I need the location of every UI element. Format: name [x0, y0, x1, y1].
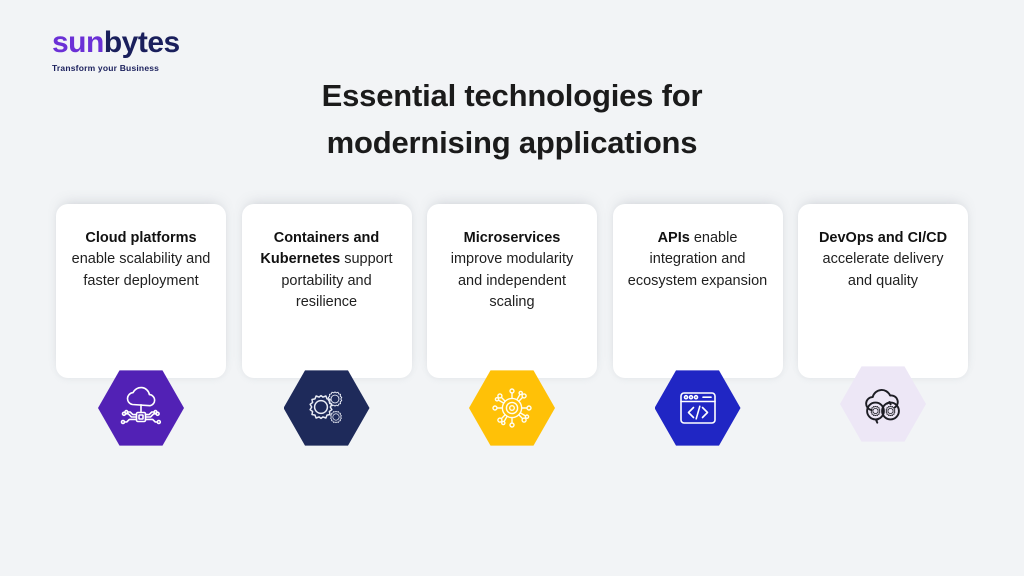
card-text: DevOps and CI/CD accelerate delivery and…: [810, 228, 956, 292]
cloud-computing-icon: [116, 385, 166, 431]
card-cloud-platforms[interactable]: Cloud platforms enable scalability and f…: [56, 204, 226, 378]
hex-badge-microservices: [469, 368, 555, 448]
card-body: Microservices improve modularity and ind…: [427, 204, 597, 378]
microservices-nodes-icon: [487, 384, 537, 432]
card-text: APIs enable integration and ecosystem ex…: [625, 228, 771, 292]
card-body: DevOps and CI/CD accelerate delivery and…: [798, 204, 968, 378]
page-title-line-2: modernising applications: [0, 119, 1024, 166]
hex-badge-containers-kubernetes: [284, 368, 370, 448]
card-description: enable scalability and faster deployment: [72, 251, 211, 288]
card-description: accelerate delivery and quality: [823, 251, 944, 288]
code-window-icon: [673, 386, 723, 430]
brand-logo: sunbytes Transform your Business: [52, 28, 232, 73]
card-description: enable integration and ecosystem expansi…: [628, 230, 767, 289]
card-body: APIs enable integration and ecosystem ex…: [613, 204, 783, 378]
gears-icon: [302, 385, 352, 431]
card-title: DevOps and CI/CD: [819, 230, 947, 246]
brand-name: sunbytes: [52, 28, 232, 58]
card-description: improve modularity and independent scali…: [451, 251, 574, 310]
brand-name-part2: bytes: [104, 26, 180, 59]
card-body: Cloud platforms enable scalability and f…: [56, 204, 226, 378]
card-text: Microservices improve modularity and ind…: [439, 228, 585, 313]
card-title: APIs: [658, 230, 690, 246]
card-containers-kubernetes[interactable]: Containers and Kubernetes support portab…: [242, 204, 412, 378]
card-text: Containers and Kubernetes support portab…: [254, 228, 400, 313]
technology-card-row: Cloud platforms enable scalability and f…: [56, 204, 968, 378]
card-text: Cloud platforms enable scalability and f…: [68, 228, 214, 292]
card-apis[interactable]: APIs enable integration and ecosystem ex…: [613, 204, 783, 378]
card-title: Microservices: [464, 230, 561, 246]
card-microservices[interactable]: Microservices improve modularity and ind…: [427, 204, 597, 378]
page-title-line-1: Essential technologies for: [0, 72, 1024, 119]
devops-cloud-gears-icon: [856, 380, 910, 428]
card-title: Cloud platforms: [85, 230, 196, 246]
brand-name-part1: sun: [52, 26, 104, 59]
page-title: Essential technologies for modernising a…: [0, 72, 1024, 166]
card-devops-cicd[interactable]: DevOps and CI/CD accelerate delivery and…: [798, 204, 968, 378]
card-body: Containers and Kubernetes support portab…: [242, 204, 412, 378]
hex-badge-cloud-platforms: [98, 368, 184, 448]
hex-badge-apis: [655, 368, 741, 448]
